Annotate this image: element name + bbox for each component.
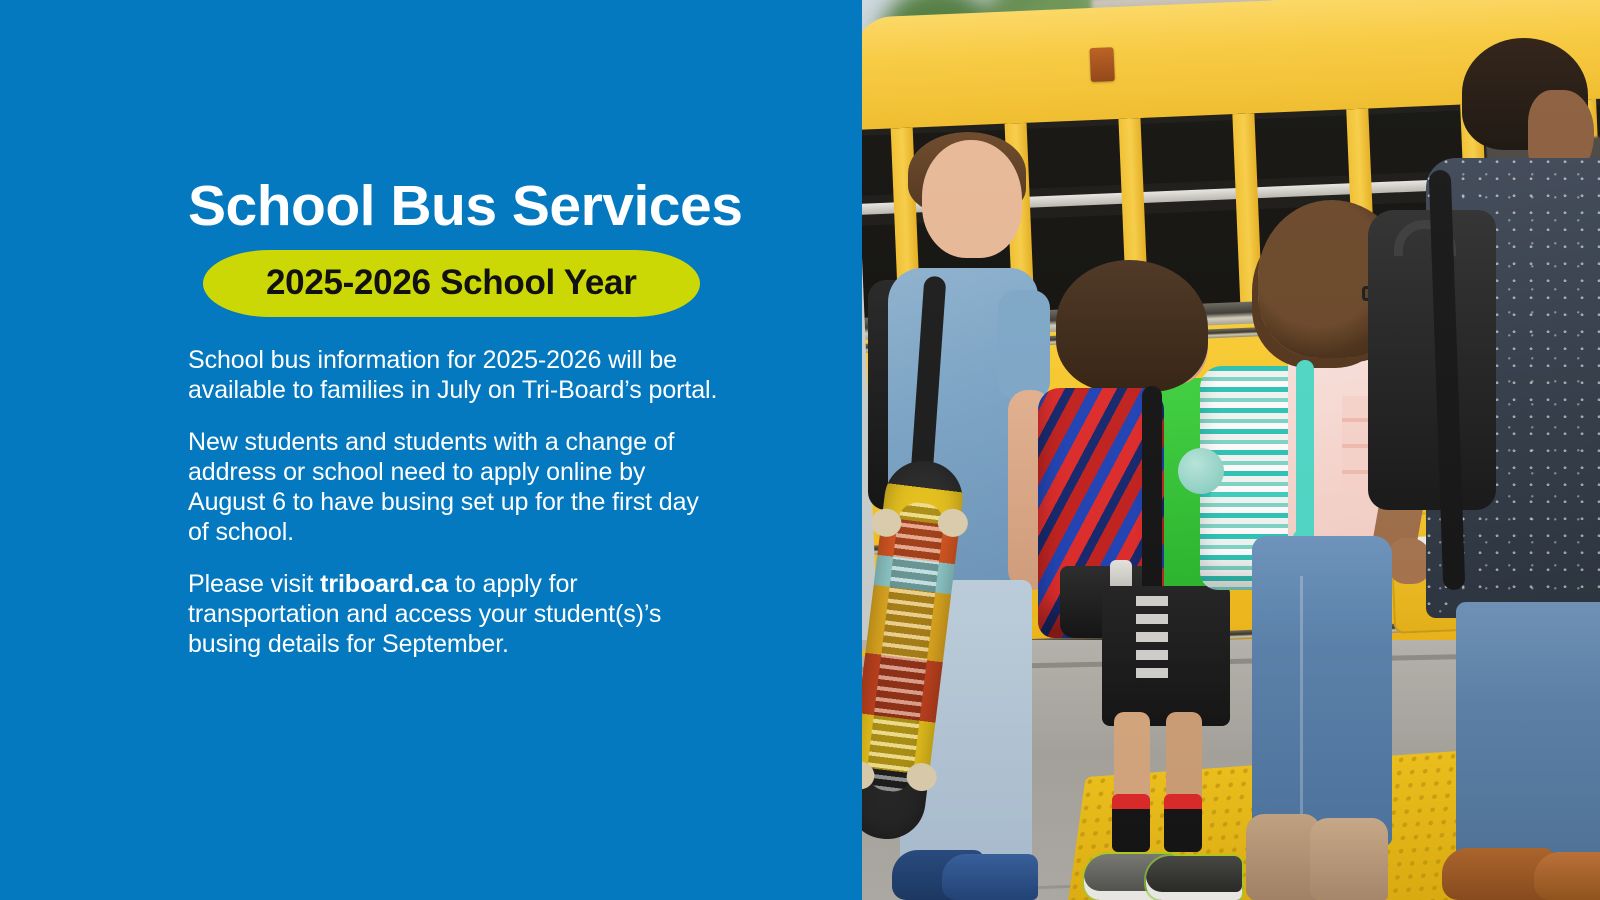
student-in-dark-jacket <box>1380 20 1600 900</box>
visit-prefix: Please visit <box>188 570 320 598</box>
paragraph-apply-deadline-text: New students and students with a change … <box>188 428 699 546</box>
head <box>922 140 1022 258</box>
page-title: School Bus Services <box>188 176 728 236</box>
blue-jeans <box>1252 536 1392 846</box>
blue-jeans <box>1456 602 1600 862</box>
body-copy: School bus information for 2025-2026 wil… <box>188 345 728 659</box>
info-panel: School Bus Services 2025-2026 School Yea… <box>0 0 862 900</box>
hair <box>1056 260 1208 392</box>
red-black-sock-left <box>1112 794 1150 852</box>
sneaker-right <box>942 854 1038 900</box>
backpack-pompom <box>1178 448 1224 494</box>
school-year-badge-wrap: 2025-2026 School Year <box>203 250 700 317</box>
paragraph-availability-text: School bus information for 2025-2026 wil… <box>188 346 717 404</box>
website-link[interactable]: triboard.ca <box>320 570 448 598</box>
copy-block: School Bus Services 2025-2026 School Yea… <box>188 176 728 659</box>
school-year-badge: 2025-2026 School Year <box>203 250 700 317</box>
paragraph-availability: School bus information for 2025-2026 wil… <box>188 345 724 405</box>
shorts-graphic <box>1136 596 1168 682</box>
paragraph-apply-deadline: New students and students with a change … <box>188 427 724 547</box>
brown-shoe-right <box>1534 852 1600 900</box>
students-boarding-bus-photo: ELEMENTA SCHOOL <box>862 0 1600 900</box>
tan-wedge-boot-right <box>1310 818 1388 900</box>
school-bus-services-poster: School Bus Services 2025-2026 School Yea… <box>0 0 1600 900</box>
tan-wedge-boot-left <box>1246 814 1320 900</box>
paragraph-visit-website: Please visit triboard.ca to apply for tr… <box>188 569 724 659</box>
jeans-seam <box>1300 576 1303 826</box>
bus-roof-light <box>1089 47 1114 82</box>
backpack-strap <box>1142 386 1162 602</box>
